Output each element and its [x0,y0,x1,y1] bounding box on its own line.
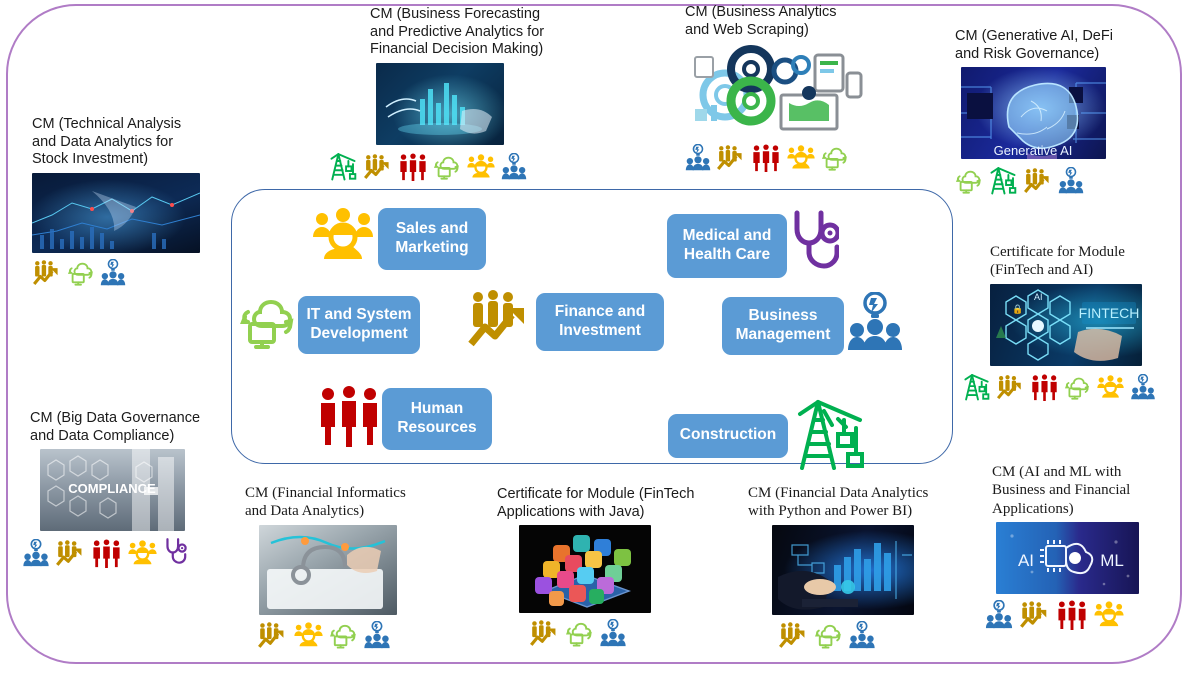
card-fintech-java[interactable]: Certificate for Module (FinTech Applicat… [497,486,707,648]
crane-icon [328,151,358,181]
svg-text:ML: ML [1100,551,1124,570]
growth-arrow-people-icon [257,621,288,650]
card-thumbnail: AI ML [996,522,1139,594]
svg-text:COMPLIANCE: COMPLIANCE [68,481,156,496]
growth-arrow-people-icon [363,153,393,181]
stethoscope-icon [163,537,187,568]
sector-it-and-system-development[interactable]: IT and System Development [238,292,420,357]
card-business-forecasting[interactable]: CM (Business Forecasting and Predictive … [370,6,620,181]
sector-medical-and-health-care[interactable]: Medical and Health Care [667,208,839,283]
card-financial-informatics[interactable]: CM (Financial Informatics and Data Analy… [245,484,465,650]
chip-business-management[interactable]: Business Management [722,297,844,355]
cloud-monitor-icon [67,259,95,287]
growth-arrow-people-icon [32,259,62,287]
sector-business-management[interactable]: Business Management [722,292,902,359]
card-title: Certificate for Module (FinTech and AI) [990,243,1190,280]
cloud-monitor-icon [238,292,298,357]
card-title: CM (Financial Data Analytics with Python… [748,484,968,521]
growth-arrow-people-icon [1019,600,1051,630]
card-sector-icons [962,372,1190,401]
sales-magnifier-people-icon [466,153,496,181]
card-title: CM (Business Forecasting and Predictive … [370,6,620,59]
card-thumbnail [32,173,200,253]
card-sector-icons [22,537,245,568]
svg-text:Generative AI: Generative AI [994,143,1073,158]
chip-finance-and-investment[interactable]: Finance and Investment [536,293,664,351]
crane-icon [988,165,1018,195]
card-sector-icons [328,151,620,181]
card-thumbnail [376,63,504,145]
lightbulb-team-icon [984,600,1014,630]
card-financial-data-analytics[interactable]: CM (Financial Data Analytics with Python… [748,484,968,650]
growth-arrow-people-icon [778,621,809,650]
sector-finance-and-investment[interactable]: Finance and Investment [466,288,664,355]
card-sector-icons [955,165,1170,195]
sector-construction[interactable]: Construction [668,394,866,477]
sales-magnifier-people-icon [127,539,158,568]
card-title: CM (AI and ML with Business and Financia… [992,463,1192,518]
card-thumbnail [519,525,651,613]
lightbulb-team-icon [848,292,902,359]
three-people-icon [316,385,382,452]
card-business-analytics[interactable]: CM (Business Analytics and Web Scraping) [685,4,945,172]
growth-arrow-people-icon [996,374,1025,401]
lightbulb-team-icon [1130,374,1156,401]
svg-text:AI: AI [1018,551,1034,570]
card-title: CM (Financial Informatics and Data Analy… [245,484,465,521]
chip-medical-and-health-care[interactable]: Medical and Health Care [667,214,787,278]
three-people-icon [398,153,428,181]
lightbulb-team-icon [599,619,627,648]
cloud-monitor-icon [565,619,594,648]
card-title: CM (Generative AI, DeFi and Risk Governa… [955,28,1170,63]
growth-arrow-people-icon [716,144,746,172]
sector-human-resources[interactable]: Human Resources [316,385,492,452]
three-people-icon [91,539,122,568]
chip-it-and-system-development[interactable]: IT and System Development [298,296,420,354]
cloud-monitor-icon [814,621,843,650]
card-thumbnail: Generative AI [961,67,1106,159]
sales-magnifier-people-icon [1096,374,1125,401]
svg-text:FINTECH: FINTECH [1079,305,1140,321]
growth-arrow-people-icon [529,619,560,648]
sales-magnifier-people-icon [310,207,376,270]
cloud-monitor-icon [1064,374,1091,401]
card-sector-icons [257,621,465,650]
card-thumbnail: AI🔒 FINTECH [990,284,1142,366]
lightbulb-team-icon [100,259,126,287]
card-ai-and-ml[interactable]: CM (AI and ML with Business and Financia… [992,463,1192,630]
card-thumbnail [772,525,914,615]
card-sector-icons [529,619,707,648]
card-sector-icons [685,144,945,172]
lightbulb-team-icon [848,621,876,650]
three-people-icon [1056,600,1088,630]
lightbulb-team-icon [1058,167,1084,195]
growth-arrow-people-icon [55,539,86,568]
lightbulb-team-icon [685,144,711,172]
cloud-monitor-icon [329,621,358,650]
card-title: CM (Technical Analysis and Data Analytic… [32,116,232,169]
chip-human-resources[interactable]: Human Resources [382,388,492,450]
crane-icon [794,394,866,477]
lightbulb-team-icon [363,621,391,650]
sales-magnifier-people-icon [786,144,816,172]
card-big-data-governance[interactable]: CM (Big Data Governance and Data Complia… [30,410,245,568]
growth-arrow-people-icon [466,288,534,355]
sales-magnifier-people-icon [293,621,324,650]
cloud-monitor-icon [821,144,849,172]
lightbulb-team-icon [501,153,527,181]
card-title: Certificate for Module (FinTech Applicat… [497,486,707,521]
stethoscope-icon [789,208,839,283]
card-technical-analysis[interactable]: CM (Technical Analysis and Data Analytic… [32,116,232,287]
card-sector-icons [32,259,232,287]
card-thumbnail: COMPLIANCE [40,449,185,531]
chip-sales-and-marketing[interactable]: Sales and Marketing [378,208,486,270]
card-fintech-and-ai[interactable]: Certificate for Module (FinTech and AI) … [990,243,1190,401]
card-sector-icons [984,600,1192,630]
lightbulb-team-icon [22,539,50,568]
card-title: CM (Business Analytics and Web Scraping) [685,4,945,39]
sector-sales-and-marketing[interactable]: Sales and Marketing [310,207,486,270]
card-thumbnail [259,525,397,615]
svg-text:🔒: 🔒 [1012,304,1023,314]
cloud-monitor-icon [955,167,983,195]
card-thumbnail [689,43,869,138]
three-people-icon [751,144,781,172]
card-sector-icons [778,621,968,650]
three-people-icon [1030,374,1059,401]
growth-arrow-people-icon [1023,167,1053,195]
svg-text:AI: AI [1034,292,1043,302]
card-generative-ai[interactable]: CM (Generative AI, DeFi and Risk Governa… [955,28,1170,195]
cloud-monitor-icon [433,153,461,181]
chip-construction[interactable]: Construction [668,414,788,458]
crane-icon [962,372,991,401]
card-title: CM (Big Data Governance and Data Complia… [30,410,245,445]
sales-magnifier-people-icon [1093,600,1125,630]
